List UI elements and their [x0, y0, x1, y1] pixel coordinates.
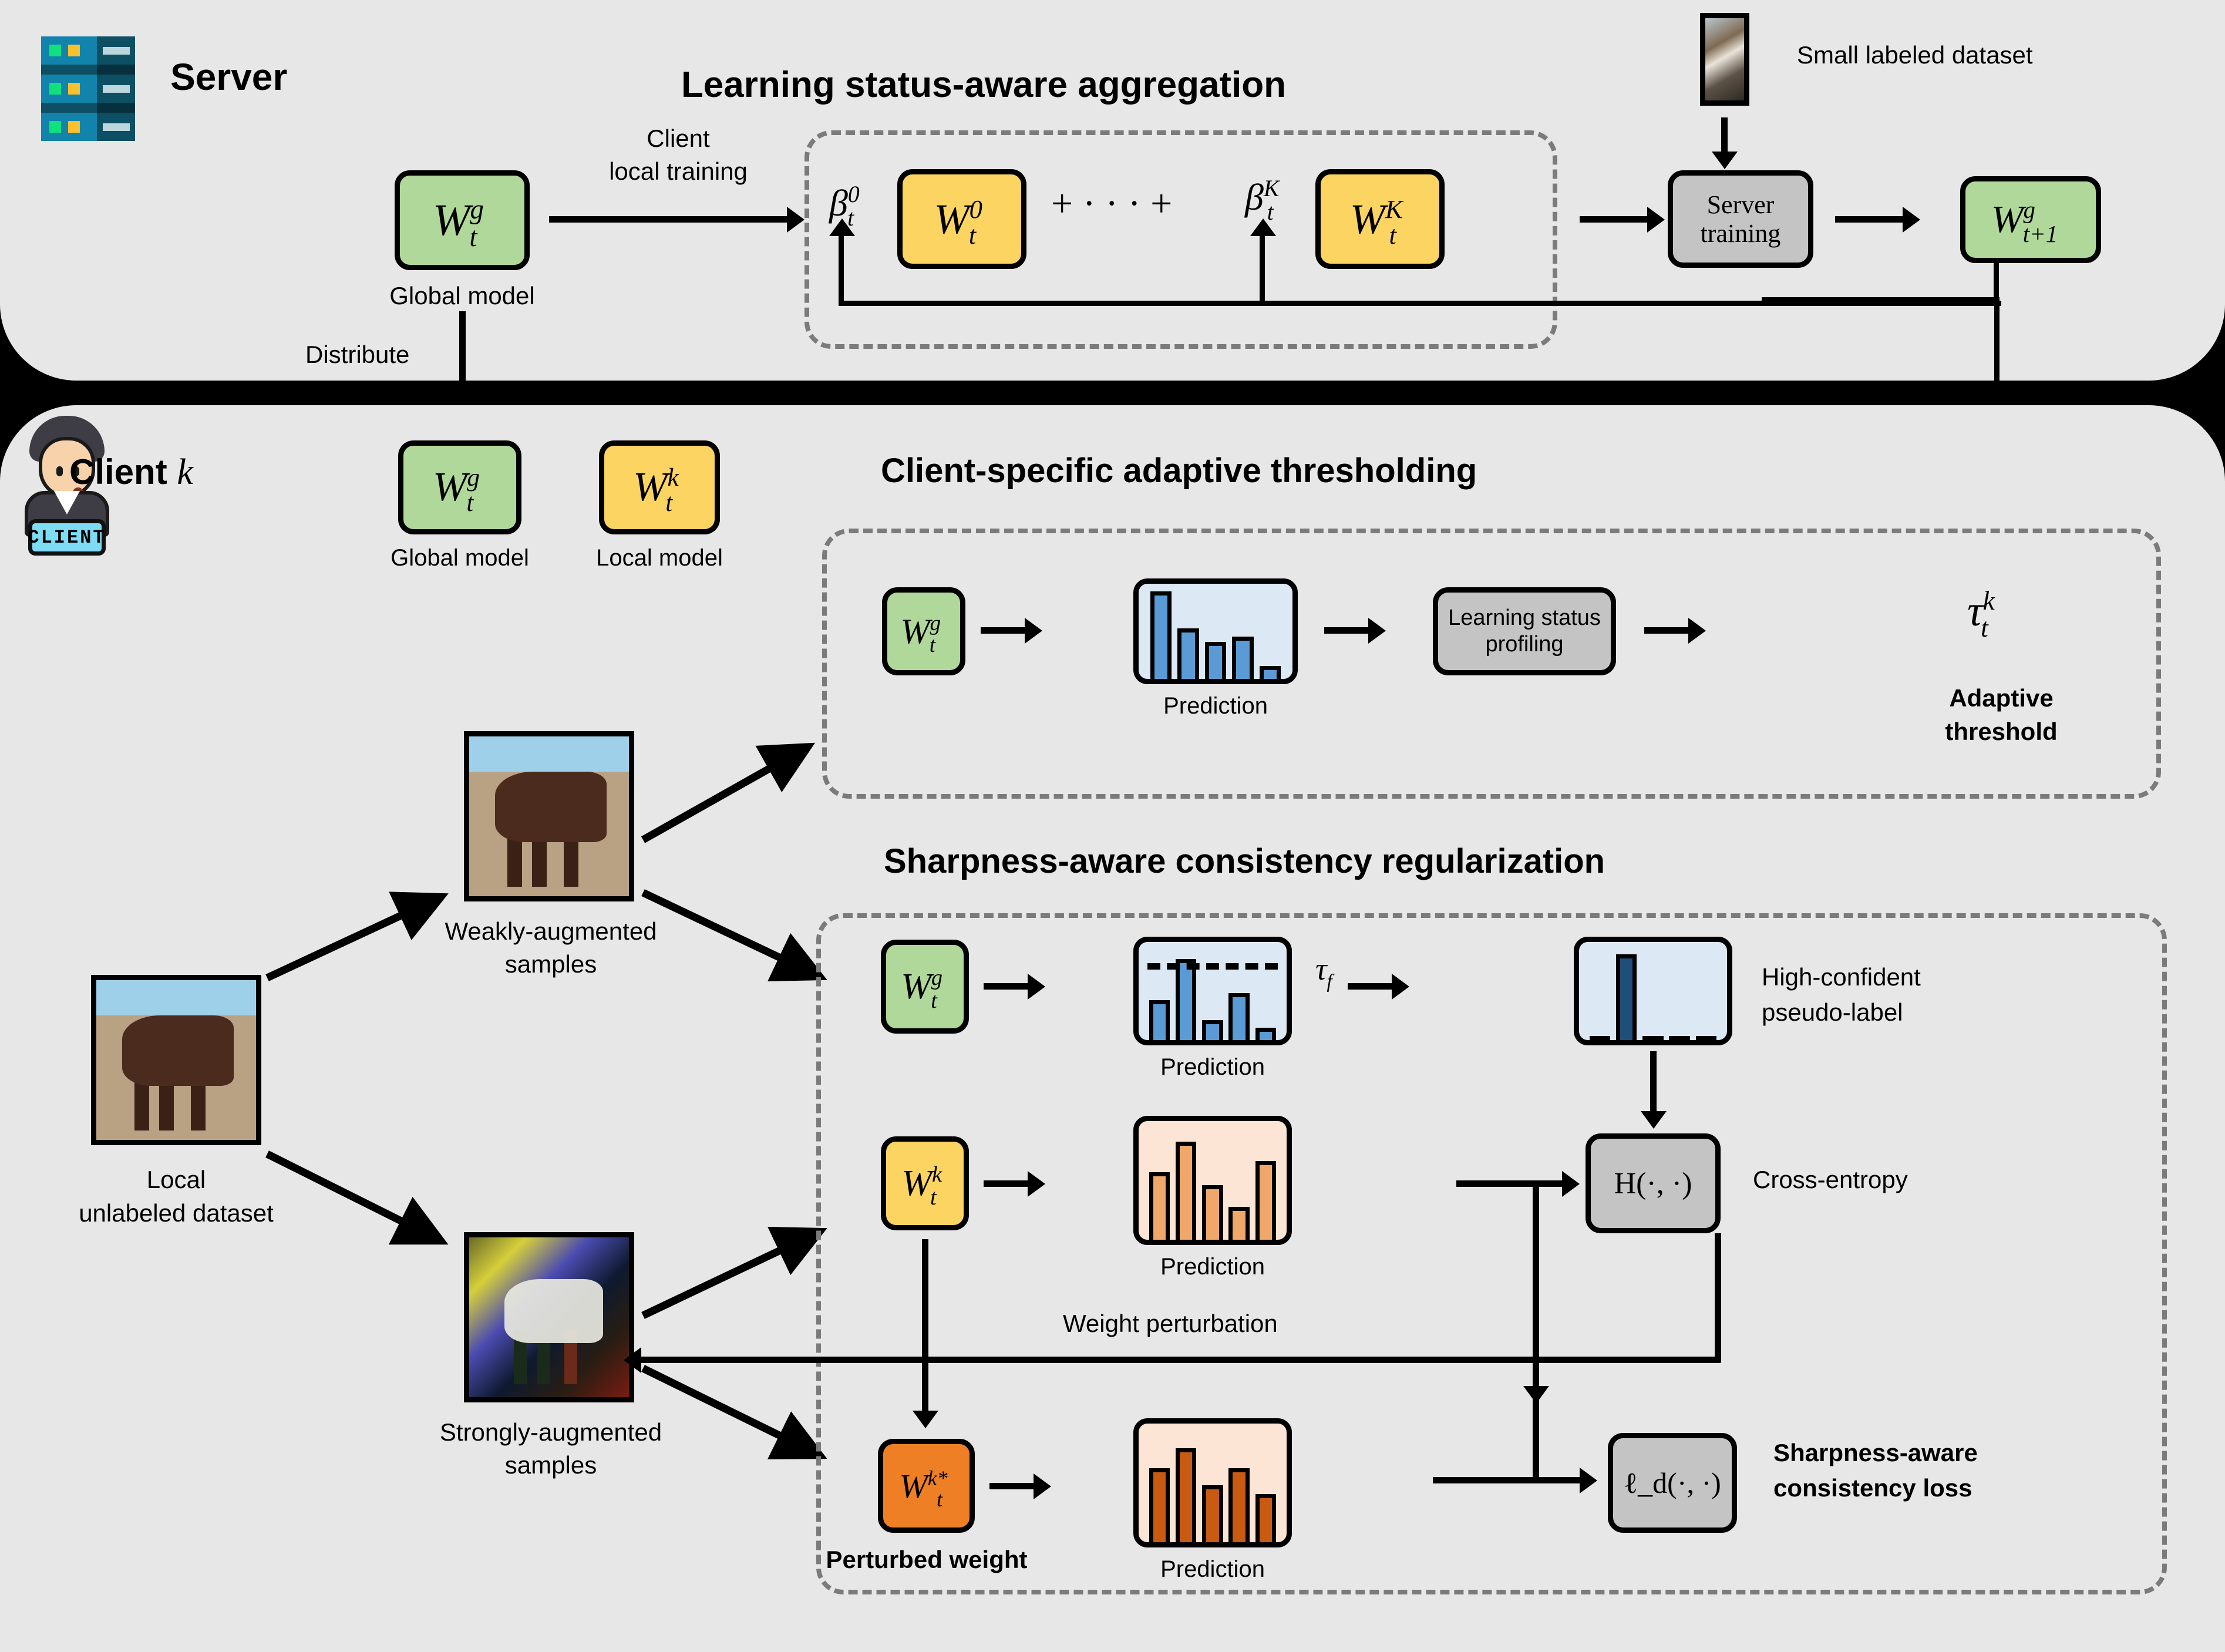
betaK-feedback-stub [1260, 235, 1265, 304]
sharpness-arrow1-line [984, 983, 1031, 990]
thresholding-arrow2-line [1324, 627, 1371, 634]
local-to-perturbed-line [922, 1239, 928, 1415]
server-global-model-box: Wgt [395, 170, 530, 270]
sharpness-prediction-caption-3: Prediction [1160, 1556, 1265, 1583]
sharpness-arrow3-line [984, 1180, 1031, 1187]
server-training-label-2: training [1701, 219, 1781, 248]
bar [1228, 1468, 1249, 1542]
sharpness-prediction-caption-1: Prediction [1160, 1054, 1265, 1081]
client-local-training-label: Client [647, 125, 709, 152]
chart-threshold-prediction [1133, 578, 1298, 684]
bar [1202, 1185, 1223, 1240]
sharpness-arrow4-head [1034, 1473, 1051, 1499]
bar [1232, 637, 1253, 679]
consistency-loss-symbol: ℓ_d(·, ·) [1624, 1466, 1721, 1500]
adaptive-threshold-caption-2: threshold [1945, 718, 2057, 745]
sharpness-arrow4-line [989, 1483, 1036, 1489]
sharpness-arrow1-head [1028, 974, 1045, 1000]
agg-to-training-line [1580, 216, 1650, 223]
training-to-next-line [1835, 216, 1906, 223]
thresholding-arrow1-line [981, 627, 1028, 634]
sharpness-global-model-box: Wgt [881, 940, 969, 1034]
adaptive-threshold-caption-1: Adaptive [1949, 684, 2053, 712]
learning-status-profiling-box: Learning status profiling [1433, 587, 1616, 675]
small-labeled-dataset-image [1700, 13, 1749, 106]
bar [1176, 1448, 1196, 1542]
beta0-feedback-arrow [829, 218, 855, 236]
bar [1205, 642, 1226, 679]
chart-high-confident-pseudo-label [1574, 937, 1732, 1045]
bar [1150, 591, 1172, 679]
server-title: Server [170, 56, 287, 99]
training-to-next-arrow [1903, 207, 1920, 233]
client-index: k [177, 452, 193, 492]
beta-K-coefficient: βKt [1245, 176, 1285, 218]
consistency-loss-caption-2: consistency loss [1773, 1474, 1972, 1502]
bar [1202, 1485, 1223, 1542]
client-title: Client k [69, 452, 193, 493]
sharpness-prediction-caption-2: Prediction [1160, 1254, 1265, 1280]
sharpness-section-title: Sharpness-aware consistency regularizati… [884, 843, 1605, 881]
local-training-arrow-head [787, 207, 804, 233]
bar [1149, 1000, 1170, 1040]
server-training-label-1: Server [1707, 190, 1775, 219]
beta0-feedback-stub [839, 235, 844, 304]
thresholding-arrow3-line [1644, 627, 1691, 634]
bar [1176, 959, 1196, 1040]
consistency-loss-caption-1: Sharpness-aware [1773, 1439, 1978, 1466]
labeled-dataset-arrow-line [1721, 117, 1728, 156]
cross-entropy-caption: Cross-entropy [1753, 1166, 1908, 1193]
cross-entropy-symbol: H(·, ·) [1614, 1166, 1692, 1201]
bar [1177, 628, 1199, 679]
local-to-ce-arrow [1562, 1171, 1580, 1197]
bar [1202, 1020, 1223, 1040]
ce-junction-arrow [1523, 1386, 1549, 1404]
pseudo-to-ce-line [1650, 1051, 1657, 1116]
server-rack-icon [41, 36, 135, 122]
client-local-training-label-2: local training [609, 157, 748, 185]
bar [1255, 1161, 1276, 1240]
profiling-label-2: profiling [1485, 631, 1563, 658]
client-badge: CLIENT [28, 519, 106, 556]
sharpness-local-model-box: Wkt [881, 1136, 969, 1230]
ce-junction-down-line [1533, 1180, 1539, 1477]
perturbed-weight-caption: Perturbed weight [826, 1546, 1027, 1573]
ce-down-line [1715, 1233, 1721, 1362]
sharpness-arrow2-line [1348, 983, 1395, 990]
thresholding-section-title: Client-specific adaptive thresholding [881, 452, 1477, 490]
next-global-model-box: Wgt+1 [1960, 176, 2101, 263]
bar [1228, 993, 1249, 1040]
small-labeled-dataset-caption: Small labeled dataset [1797, 41, 2033, 69]
client-local-model-caption: Local model [596, 545, 723, 571]
consistency-loss-box: ℓ_d(·, ·) [1608, 1433, 1737, 1533]
chart-local-model-prediction [1133, 1116, 1292, 1245]
client-weight-K-box: WKt [1315, 169, 1445, 269]
loss-in-line [1433, 1477, 1586, 1483]
bar [1149, 1172, 1170, 1240]
thresholding-arrow2-head [1368, 618, 1386, 644]
thresholding-prediction-caption: Prediction [1163, 693, 1268, 719]
labeled-dataset-arrow-head [1712, 152, 1738, 169]
sharpness-arrow2-head [1392, 974, 1409, 1000]
bar [1255, 1494, 1276, 1542]
thresholding-model-box: Wgt [882, 587, 965, 675]
bar [1176, 1142, 1196, 1240]
bar [1255, 1028, 1276, 1041]
local-to-perturbed-arrow [913, 1411, 938, 1428]
bar [1149, 1468, 1170, 1542]
sharpness-arrow3-head [1028, 1171, 1045, 1197]
client-global-model-caption: Global model [391, 545, 529, 571]
profiling-label-1: Learning status [1448, 605, 1601, 631]
bar [1616, 954, 1637, 1040]
aggregation-section-title: Learning status-aware aggregation [681, 65, 1286, 105]
next-model-down-stub [1994, 263, 1999, 302]
server-global-model-caption: Global model [389, 282, 534, 309]
distribute-label: Distribute [305, 341, 409, 368]
client-global-model-box: Wgt [398, 440, 521, 534]
bar [1669, 1036, 1689, 1040]
chart-perturbed-model-prediction [1133, 1418, 1292, 1547]
next-model-cross-line [1762, 297, 1999, 304]
client-weight-0-box: W0t [897, 169, 1026, 269]
cross-entropy-box: H(·, ·) [1586, 1133, 1721, 1233]
loss-in-arrow [1580, 1468, 1597, 1493]
weight-perturbation-line [640, 1357, 1721, 1363]
weight-perturbation-label: Weight perturbation [1063, 1310, 1278, 1337]
bar [1696, 1036, 1716, 1040]
bar [1590, 1036, 1610, 1040]
pseudo-label-caption-2: pseudo-label [1762, 998, 1903, 1026]
betaK-feedback-arrow [1250, 218, 1276, 236]
pseudo-label-caption-1: High-confident [1762, 963, 1921, 991]
thresholding-arrow3-head [1688, 618, 1706, 644]
bar [1228, 1207, 1249, 1240]
server-training-box: Server training [1668, 170, 1813, 268]
perturbed-weight-box: Wk*t [878, 1439, 975, 1533]
local-to-ce-line [1456, 1180, 1565, 1187]
thresholding-arrow1-head [1025, 618, 1042, 644]
tau-f-symbol: τf [1315, 951, 1332, 987]
beta-0-coefficient: β0t [829, 182, 866, 224]
agg-to-training-arrow [1647, 207, 1665, 233]
bar [1260, 666, 1281, 679]
pseudo-to-ce-arrow [1641, 1111, 1667, 1129]
adaptive-threshold-symbol: τkt [1967, 587, 2002, 636]
chart-weak-global-prediction [1133, 937, 1292, 1045]
weight-perturbation-arrow [624, 1347, 641, 1373]
tau-f-threshold-line [1147, 963, 1278, 970]
client-local-model-box: Wkt [599, 440, 720, 534]
local-training-arrow-line [549, 216, 790, 223]
bar [1642, 1036, 1663, 1040]
aggregation-plus-dots: + · · · + [1051, 182, 1172, 226]
